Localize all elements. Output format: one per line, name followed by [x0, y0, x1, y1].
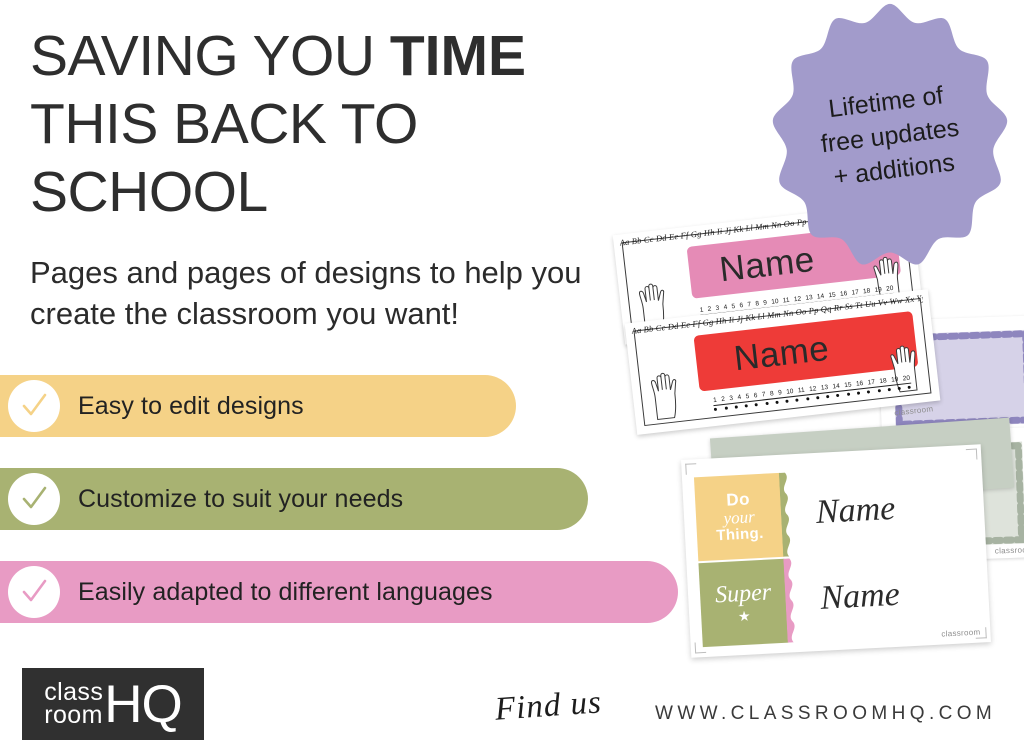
number-line-label: 2	[707, 306, 711, 313]
number-line-label: 20	[902, 375, 910, 383]
label-row-super: Super ★ Name	[698, 549, 978, 647]
number-line-label: 13	[805, 294, 813, 302]
find-us-script: Find us	[494, 684, 603, 728]
headline-line-2: this back to	[30, 92, 418, 156]
headline-line-3: school	[30, 160, 268, 224]
classroomhq-logo: class room HQ	[22, 668, 204, 740]
number-line-label: 11	[782, 297, 789, 305]
number-line-label: 4	[723, 304, 727, 311]
hand-illustration	[642, 365, 690, 423]
star-icon: ★	[716, 608, 773, 626]
feature-pill-easy-to-edit: Easy to edit designs	[0, 375, 516, 437]
page-title: Saving you Time this back to school	[30, 22, 640, 226]
number-line-label: 19	[891, 376, 899, 384]
number-line-label: 16	[840, 290, 848, 298]
number-line-label: 14	[832, 383, 840, 391]
number-line-label: 6	[739, 302, 743, 309]
number-line-label: 8	[770, 390, 774, 397]
number-line-label: 3	[715, 305, 719, 312]
number-line-label: 18	[863, 288, 871, 296]
check-icon	[8, 473, 60, 525]
number-line-label: 7	[762, 391, 766, 398]
number-line-label: 19	[874, 286, 882, 294]
number-line-label: 5	[731, 303, 735, 310]
badge-text: Lifetime of free updates + additions	[755, 0, 1024, 284]
number-line-label: 2	[721, 396, 725, 403]
watermark: classroom	[995, 545, 1024, 555]
poster-canvas: Saving you Time this back to school Page…	[0, 0, 1024, 745]
number-line-label: 8	[755, 300, 759, 307]
logo-wordmark: class room	[44, 681, 103, 727]
number-line-label: 20	[886, 285, 894, 293]
number-line-label: 18	[879, 377, 887, 385]
logo-word-hq: HQ	[104, 674, 182, 735]
number-line-label: 4	[737, 394, 741, 401]
number-line-label: 3	[729, 395, 733, 402]
chip-text: Super ★	[715, 581, 773, 626]
number-line-label: 1	[699, 307, 703, 314]
number-line-label: 11	[798, 387, 805, 395]
feature-pill-label: Easily adapted to different languages	[78, 578, 493, 607]
number-line-label: 9	[763, 299, 767, 306]
number-line-label: 15	[844, 381, 852, 389]
subheading: Pages and pages of designs to help you c…	[30, 252, 620, 334]
number-line-label: 12	[809, 385, 817, 393]
product-card-labels: Do your Thing. Name Super ★	[681, 444, 991, 657]
check-icon	[8, 380, 60, 432]
number-line-label: 17	[851, 289, 859, 297]
label-name-text: Name	[780, 463, 974, 557]
label-chip-super: Super ★	[698, 559, 788, 647]
label-row-do-your-thing: Do your Thing. Name	[694, 463, 974, 561]
website-url[interactable]: WWW.CLASSROOMHQ.COM	[655, 703, 996, 725]
headline-emphasis-time: Time	[390, 24, 526, 88]
crop-mark	[966, 448, 978, 460]
chip-text: Do your Thing.	[714, 490, 764, 544]
number-line-label: 17	[867, 379, 875, 387]
logo-word-room: room	[44, 704, 103, 727]
lifetime-updates-badge: Lifetime of free updates + additions	[770, 2, 1010, 270]
number-line-label: 1	[713, 397, 717, 404]
feature-pill-label: Easy to edit designs	[78, 392, 304, 421]
feature-pill-customize: Customize to suit your needs	[0, 468, 588, 530]
headline-line-1-pre: Saving you	[30, 24, 390, 88]
number-line-label: 16	[856, 380, 864, 388]
feature-pill-label: Customize to suit your needs	[78, 485, 403, 514]
number-line-label: 15	[828, 291, 836, 299]
number-line-label: 14	[817, 293, 825, 301]
feature-pill-languages: Easily adapted to different languages	[0, 561, 678, 623]
check-icon	[8, 566, 60, 618]
number-line-label: 9	[778, 389, 782, 396]
crop-mark	[685, 463, 697, 475]
number-line-label: 13	[821, 384, 829, 392]
label-chip-do-your-thing: Do your Thing.	[694, 473, 784, 561]
number-line-label: 10	[786, 388, 794, 396]
number-line-label: 5	[745, 393, 749, 400]
number-line-label: 6	[753, 392, 757, 399]
number-line-label: 7	[747, 301, 751, 308]
logo-lockup: class room HQ	[44, 674, 181, 735]
number-line-label: 12	[794, 295, 802, 303]
number-line-label: 10	[771, 298, 779, 306]
